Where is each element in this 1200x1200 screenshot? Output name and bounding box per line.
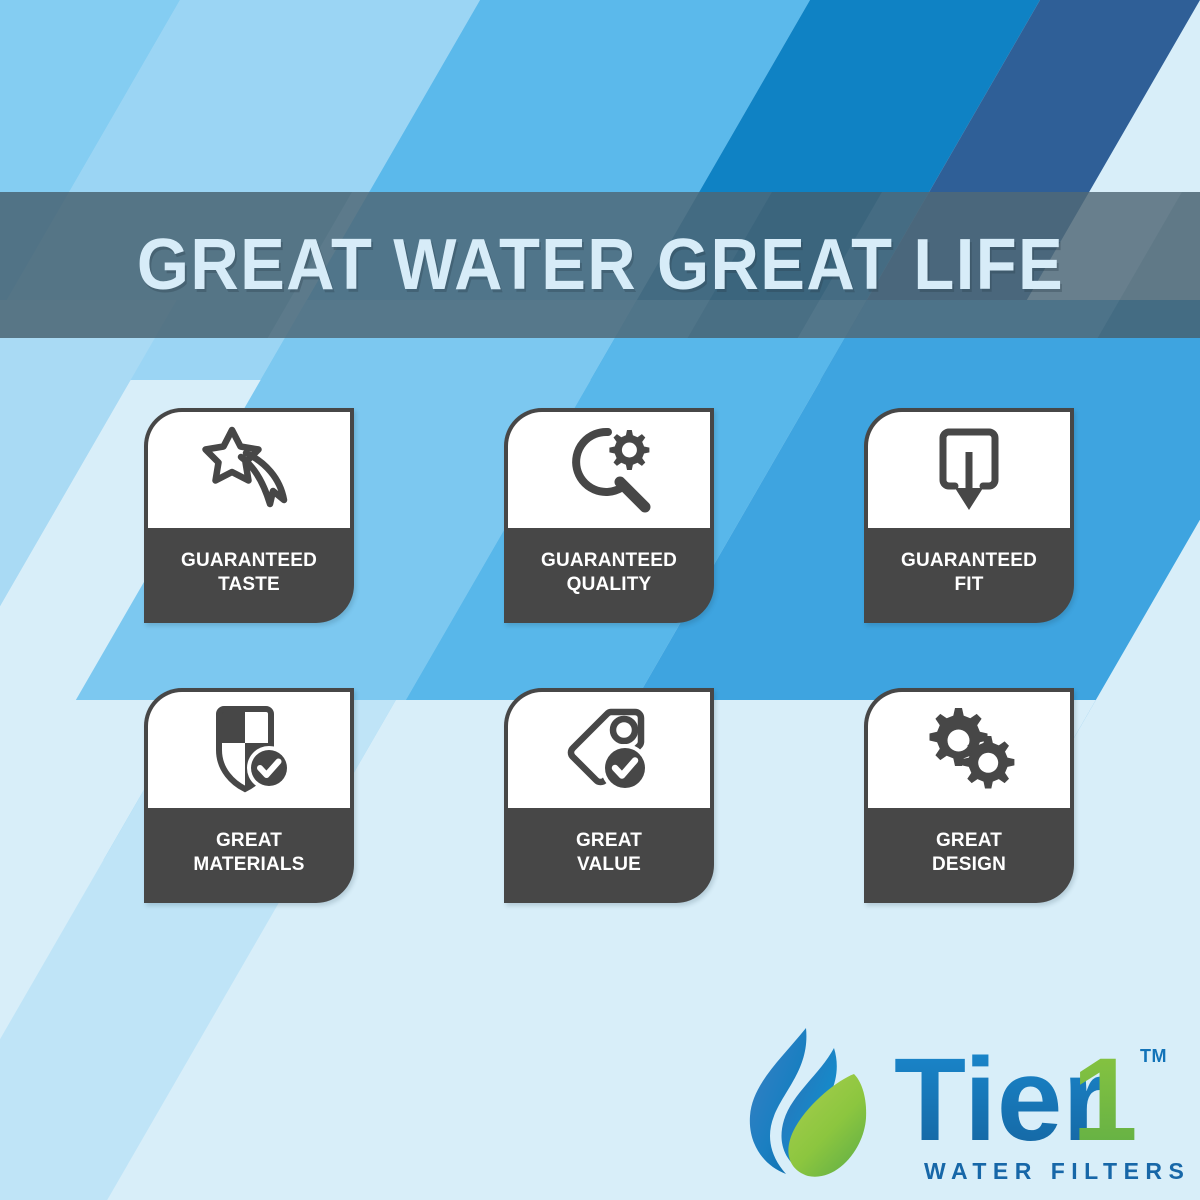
card-icon-area (508, 412, 710, 528)
headline-banner: GREAT WATER GREAT LIFE (0, 192, 1200, 338)
gears-icon (919, 704, 1019, 796)
card-label: GREAT VALUE (576, 829, 642, 875)
shooting-star-icon (199, 424, 299, 516)
card-label-area: GUARANTEED QUALITY (504, 528, 714, 623)
card-label-area: GREAT VALUE (504, 808, 714, 903)
magnifier-gear-icon (559, 424, 659, 516)
feature-card-guaranteed-quality[interactable]: GUARANTEED QUALITY (504, 408, 714, 623)
card-label: GUARANTEED FIT (901, 549, 1037, 595)
svg-text:1: 1 (1072, 1036, 1138, 1164)
card-label-area: GUARANTEED TASTE (144, 528, 354, 623)
card-label: GUARANTEED QUALITY (541, 549, 677, 595)
card-icon-area (868, 692, 1070, 808)
water-drop-leaf-icon (742, 1024, 882, 1182)
page-title: GREAT WATER GREAT LIFE (136, 229, 1063, 301)
card-icon-area (148, 692, 350, 808)
card-label-area: GREAT MATERIALS (144, 808, 354, 903)
box-arrow-down-icon (919, 424, 1019, 516)
card-icon-area (148, 412, 350, 528)
tag-check-icon (559, 704, 659, 796)
card-label: GREAT MATERIALS (193, 829, 304, 875)
shield-check-icon (199, 704, 299, 796)
feature-card-great-materials[interactable]: GREAT MATERIALS (144, 688, 354, 903)
card-label: GUARANTEED TASTE (181, 549, 317, 595)
tier1-logo: Tier 1 TM WATER FILTERS (742, 1022, 1172, 1190)
feature-card-great-design[interactable]: GREAT DESIGN (864, 688, 1074, 903)
trademark-symbol: TM (1140, 1046, 1167, 1067)
card-icon-area (508, 692, 710, 808)
card-label: GREAT DESIGN (932, 829, 1006, 875)
feature-card-grid: GUARANTEED TASTE GUARANTEED (144, 408, 1074, 903)
card-label-area: GUARANTEED FIT (864, 528, 1074, 623)
promo-graphic: GREAT WATER GREAT LIFE GUARANTEED TASTE (0, 0, 1200, 1200)
feature-card-guaranteed-fit[interactable]: GUARANTEED FIT (864, 408, 1074, 623)
feature-card-great-value[interactable]: GREAT VALUE (504, 688, 714, 903)
card-icon-area (868, 412, 1070, 528)
tier1-wordmark: Tier 1 (894, 1036, 1144, 1164)
logo-subtitle: WATER FILTERS (924, 1158, 1190, 1185)
card-label-area: GREAT DESIGN (864, 808, 1074, 903)
feature-card-guaranteed-taste[interactable]: GUARANTEED TASTE (144, 408, 354, 623)
